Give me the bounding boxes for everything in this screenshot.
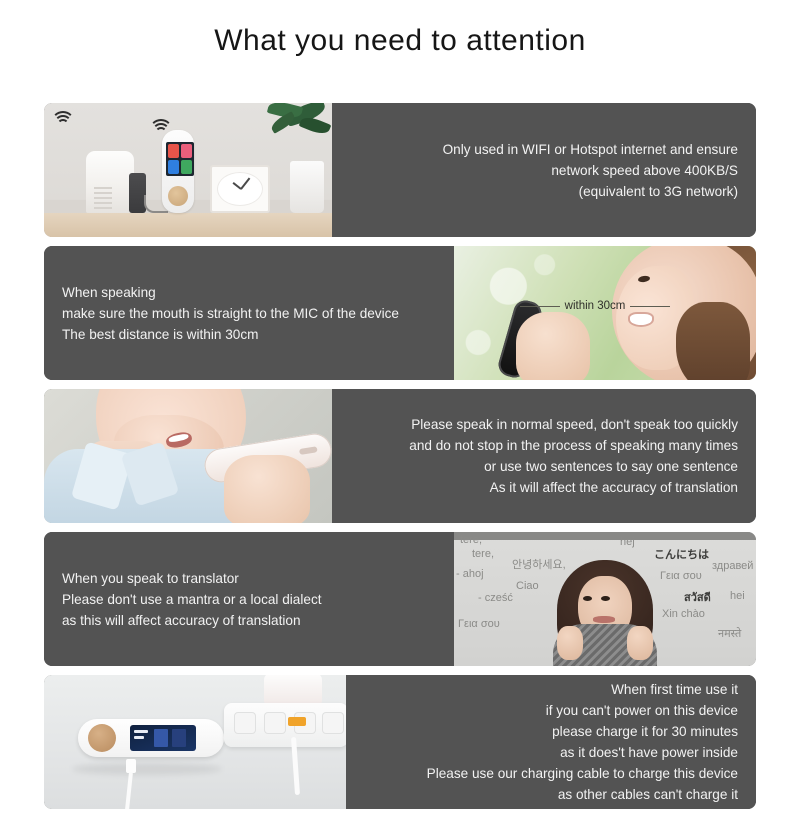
panel-text-speaking-distance: When speaking make sure the mouth is str… [44, 246, 454, 380]
device-shadow [72, 763, 222, 775]
image-translator-charging-on-power-strip [44, 675, 346, 809]
clock-face [217, 172, 263, 206]
attention-infographic: What you need to attention [0, 0, 800, 800]
power-socket [234, 712, 256, 734]
panel-speaking-speed: Please speak in normal speed, don't spea… [44, 389, 756, 523]
panel-first-time-charging: When first time use it if you can't powe… [44, 675, 756, 809]
translator-device [162, 130, 194, 213]
greeting-word: tere, [472, 548, 494, 560]
power-strip [224, 703, 346, 747]
power-socket [322, 712, 344, 734]
panel-text-line: as other cables can't charge it [558, 784, 738, 805]
woman-hand [516, 312, 590, 380]
panel-text-line: Only used in WIFI or Hotspot internet an… [443, 139, 738, 160]
wall-top-band [454, 532, 756, 540]
greeting-word: - ahoj [456, 568, 484, 580]
image-woman-speaking-into-device: within 30cm [454, 246, 756, 380]
greeting-word: สวัสดี [684, 588, 711, 606]
greeting-word: नमस्ते [718, 626, 741, 641]
man-hand [224, 455, 310, 523]
measure-line [520, 306, 560, 307]
panel-text-no-dialect: When you speak to translator Please don'… [44, 532, 454, 666]
greeting-word: hei [730, 590, 745, 602]
device-dial [88, 724, 116, 752]
greeting-word: tere, [460, 534, 482, 546]
greeting-word: Γεια σου [660, 570, 702, 582]
panel-text-line: make sure the mouth is straight to the M… [62, 303, 399, 324]
panel-text-first-time-charging: When first time use it if you can't powe… [346, 675, 756, 809]
wifi-icon [52, 111, 74, 127]
woman-hand [627, 626, 653, 660]
device-screen [130, 725, 196, 751]
power-socket [264, 712, 286, 734]
panel-text-line: The best distance is within 30cm [62, 324, 258, 345]
woman-mouth [630, 314, 652, 325]
translator-device [78, 719, 224, 757]
woman-hair-strand [676, 302, 750, 380]
panel-text-line: Please use our charging cable to charge … [427, 763, 738, 784]
panel-text-line: (equivalent to 3G network) [579, 181, 738, 202]
greeting-word: Ciao [516, 580, 539, 592]
distance-caption: within 30cm [565, 300, 626, 312]
panel-text-line: as this will affect accuracy of translat… [62, 610, 301, 631]
wifi-router [86, 151, 134, 213]
woman-eye [583, 596, 592, 601]
greeting-word: здравей [712, 560, 753, 572]
panel-text-line: Please speak in normal speed, don't spea… [411, 414, 738, 435]
panel-no-dialect: tere, tere, 안녕하세요, - ahoj Ciao - cześć Γ… [44, 532, 756, 666]
device-screen [166, 142, 194, 176]
image-woman-thinking-with-greetings-wall: tere, tere, 안녕하세요, - ahoj Ciao - cześć Γ… [454, 532, 756, 666]
panel-text-line: When you speak to translator [62, 568, 239, 589]
page-title: What you need to attention [0, 0, 800, 56]
desk-surface [44, 213, 332, 237]
panel-list: Only used in WIFI or Hotspot internet an… [44, 103, 756, 818]
panel-text-line: When speaking [62, 282, 156, 303]
confused-woman [545, 546, 665, 666]
panel-text-line: if you can't power on this device [546, 700, 738, 721]
greeting-word: Γεια σου [458, 618, 500, 630]
woman-mouth [593, 616, 615, 623]
image-man-speaking-into-phone [44, 389, 332, 523]
panel-text-line: network speed above 400KB/S [551, 160, 738, 181]
woman-hand [557, 626, 583, 660]
device-dial [168, 186, 188, 206]
panel-wifi-requirement: Only used in WIFI or Hotspot internet an… [44, 103, 756, 237]
charging-cable [126, 759, 136, 773]
panel-text-line: as it does't have power inside [560, 742, 738, 763]
panel-text-line: and do not stop in the process of speaki… [409, 435, 738, 456]
panel-text-line: or use two sentences to say one sentence [484, 456, 738, 477]
woman-eye [601, 596, 610, 601]
distance-measure-annotation: within 30cm [520, 298, 670, 314]
greeting-word: Xin chào [662, 608, 705, 620]
panel-text-line: When first time use it [611, 679, 738, 700]
modem [129, 173, 146, 213]
panel-text-speaking-speed: Please speak in normal speed, don't spea… [332, 389, 756, 523]
panel-text-line: As it will affect the accuracy of transl… [490, 477, 738, 498]
plant-pot [290, 161, 324, 213]
clock-minute-hand [240, 178, 250, 190]
image-router-and-translator-on-desk [44, 103, 332, 237]
panel-speaking-distance: within 30cm When speaking make sure the … [44, 246, 756, 380]
measure-line [630, 306, 670, 307]
wifi-icon [152, 119, 170, 132]
panel-text-line: Please don't use a mantra or a local dia… [62, 589, 322, 610]
desk-clock [210, 165, 270, 213]
panel-text-wifi-requirement: Only used in WIFI or Hotspot internet an… [332, 103, 756, 237]
usb-port [288, 717, 306, 726]
panel-text-line: please charge it for 30 minutes [552, 721, 738, 742]
greeting-word: - cześć [478, 592, 513, 604]
